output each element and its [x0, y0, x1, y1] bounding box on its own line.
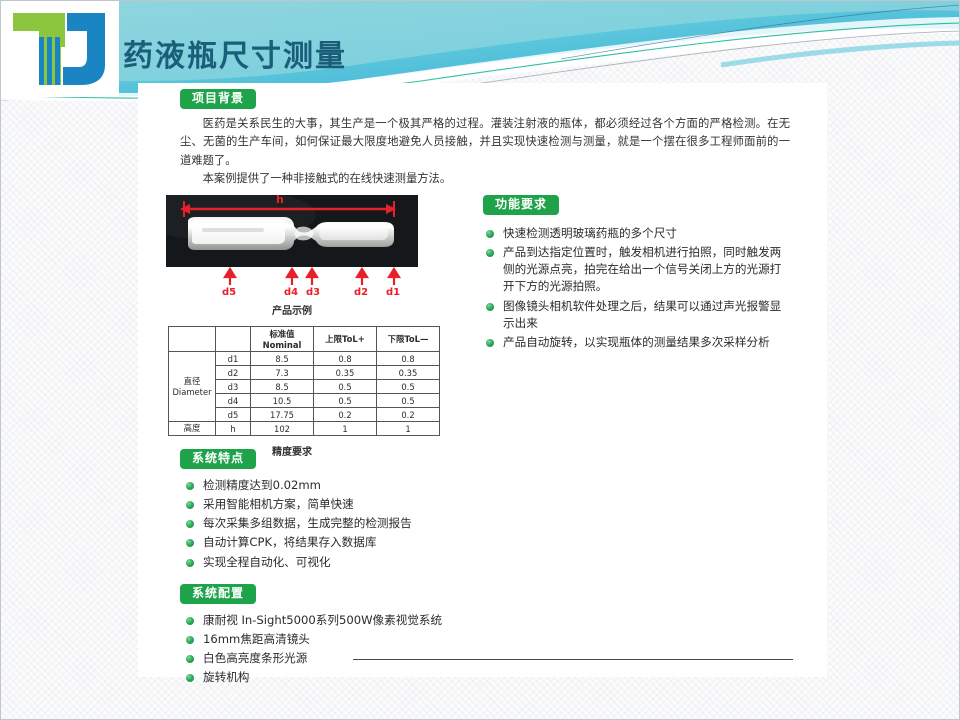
list-item: 16mm焦距高清镜头	[186, 631, 516, 648]
cell-tol-minus: 0.8	[377, 352, 440, 366]
product-photo-caption: 产品示例	[166, 302, 418, 317]
span-label-h: h	[276, 195, 284, 206]
group-label-diameter: 直径 Diameter	[169, 352, 216, 422]
list-item: 图像镜头相机软件处理之后，结果可以通过声光报警显示出来	[486, 298, 786, 332]
th-blank-1	[169, 327, 216, 352]
cell-nominal: 7.3	[251, 366, 314, 380]
list-item-label: 检测精度达到0.02mm	[203, 478, 321, 492]
cell-tol-plus: 0.5	[314, 380, 377, 394]
badge-function-requirements: 功能要求	[483, 195, 559, 215]
cell-key: d3	[216, 380, 251, 394]
dimension-label-d5: d5	[222, 287, 236, 298]
cell-nominal: 17.75	[251, 408, 314, 422]
bullet-dot-icon	[486, 230, 494, 238]
cell-key: h	[216, 422, 251, 436]
list-item-label: 采用智能相机方案，简单快速	[203, 497, 354, 511]
list-item: 采用智能相机方案，简单快速	[186, 496, 476, 513]
list-item: 检测精度达到0.02mm	[186, 477, 476, 494]
list-item-label: 16mm焦距高清镜头	[203, 632, 310, 646]
list-item-label: 每次采集多组数据，生成完整的检测报告	[203, 516, 412, 530]
table-header-row: 标准值Nominal 上限ToL+ 下限ToL—	[169, 327, 440, 352]
nj-logo-icon	[9, 7, 111, 91]
height-span-arrow	[166, 195, 418, 267]
list-item-label: 产品到达指定位置时，触发相机进行拍照，同时触发两侧的光源点亮，拍完在给出一个信号…	[503, 245, 781, 293]
spec-table: 标准值Nominal 上限ToL+ 下限ToL— 直径 Diameter d1 …	[168, 326, 440, 436]
bullet-dot-icon	[186, 617, 194, 625]
list-item-label: 康耐视 In-Sight5000系列500W像素视觉系统	[203, 613, 442, 627]
dimension-label-d3: d3	[306, 287, 320, 298]
cell-tol-plus: 1	[314, 422, 377, 436]
list-item-label: 实现全程自动化、可视化	[203, 555, 331, 569]
cell-tol-minus: 0.35	[377, 366, 440, 380]
page-title: 药液瓶尺寸测量	[123, 31, 347, 75]
background-paragraph-2: 本案例提供了一种非接触式的在线快速测量方法。	[180, 170, 790, 188]
system-features-list: 检测精度达到0.02mm 采用智能相机方案，简单快速 每次采集多组数据，生成完整…	[186, 477, 476, 573]
list-item: 实现全程自动化、可视化	[186, 554, 476, 571]
group-label-height: 高度	[169, 422, 216, 436]
bullet-dot-icon	[486, 249, 494, 257]
list-item-label: 快速检测透明玻璃药瓶的多个尺寸	[503, 226, 677, 240]
list-item: 产品到达指定位置时，触发相机进行拍照，同时触发两侧的光源点亮，拍完在给出一个信号…	[486, 244, 786, 295]
list-item: 旋转机构	[186, 669, 516, 686]
section-system-config: 系统配置	[180, 584, 256, 604]
cell-tol-minus: 0.5	[377, 380, 440, 394]
list-item-label: 自动计算CPK，将结果存入数据库	[203, 535, 376, 549]
cell-tol-minus: 0.2	[377, 408, 440, 422]
list-item: 快速检测透明玻璃药瓶的多个尺寸	[486, 225, 786, 242]
bullet-dot-icon	[186, 559, 194, 567]
list-item-label: 白色高亮度条形光源	[203, 651, 307, 665]
section-system-features: 系统特点	[180, 449, 256, 469]
cell-nominal: 8.5	[251, 352, 314, 366]
list-item: 康耐视 In-Sight5000系列500W像素视觉系统	[186, 612, 516, 629]
badge-system-config: 系统配置	[180, 584, 256, 604]
cell-key: d4	[216, 394, 251, 408]
cell-key: d1	[216, 352, 251, 366]
cell-tol-minus: 0.5	[377, 394, 440, 408]
list-item-label: 产品自动旋转，以实现瓶体的测量结果多次采样分析	[503, 335, 770, 349]
cell-key: d5	[216, 408, 251, 422]
dimension-label-d2: d2	[354, 287, 368, 298]
th-tol-minus: 下限ToL—	[377, 327, 440, 352]
cell-nominal: 102	[251, 422, 314, 436]
section-background: 项目背景	[180, 89, 256, 109]
content-panel: 项目背景 医药是关系民生的大事，其生产是一个极其严格的过程。灌装注射液的瓶体，都…	[138, 83, 827, 677]
footer-divider	[353, 659, 793, 660]
company-logo	[1, 1, 119, 97]
function-req-list: 快速检测透明玻璃药瓶的多个尺寸 产品到达指定位置时，触发相机进行拍照，同时触发两…	[486, 225, 786, 353]
list-item: 产品自动旋转，以实现瓶体的测量结果多次采样分析	[486, 334, 786, 351]
cell-tol-minus: 1	[377, 422, 440, 436]
cell-tol-plus: 0.8	[314, 352, 377, 366]
table-row: 高度 h 102 1 1	[169, 422, 440, 436]
list-item-label: 旋转机构	[203, 670, 249, 684]
cell-tol-plus: 0.35	[314, 366, 377, 380]
bullet-dot-icon	[186, 501, 194, 509]
dimension-label-d4: d4	[284, 287, 298, 298]
cell-nominal: 10.5	[251, 394, 314, 408]
spec-table-figure: 标准值Nominal 上限ToL+ 下限ToL— 直径 Diameter d1 …	[168, 326, 440, 458]
list-item: 自动计算CPK，将结果存入数据库	[186, 534, 476, 551]
th-tol-plus: 上限ToL+	[314, 327, 377, 352]
product-example-figure: h d5 d4 d3 d2 d1 产品示例	[166, 195, 428, 315]
list-item: 每次采集多组数据，生成完整的检测报告	[186, 515, 476, 532]
bullet-dot-icon	[186, 520, 194, 528]
section-function-req: 功能要求	[483, 195, 559, 215]
background-paragraph-1: 医药是关系民生的大事，其生产是一个极其严格的过程。灌装注射液的瓶体，都必须经过各…	[180, 115, 790, 170]
system-config-list: 康耐视 In-Sight5000系列500W像素视觉系统 16mm焦距高清镜头 …	[186, 612, 516, 689]
dimension-label-d1: d1	[386, 287, 400, 298]
table-row: 直径 Diameter d1 8.5 0.8 0.8	[169, 352, 440, 366]
group-label-diameter-en: Diameter	[172, 387, 211, 397]
th-blank-2	[216, 327, 251, 352]
badge-project-background: 项目背景	[180, 89, 256, 109]
bullet-dot-icon	[486, 303, 494, 311]
list-item-label: 图像镜头相机软件处理之后，结果可以通过声光报警显示出来	[503, 299, 781, 330]
dimension-arrows	[166, 267, 418, 287]
cell-tol-plus: 0.2	[314, 408, 377, 422]
bullet-dot-icon	[186, 636, 194, 644]
bullet-dot-icon	[186, 655, 194, 663]
bullet-dot-icon	[186, 539, 194, 547]
slide: 药液瓶尺寸测量 项目背景 医药是关系民生的大事，其生产是一个极其严格的过程。灌装…	[0, 0, 960, 720]
cell-tol-plus: 0.5	[314, 394, 377, 408]
cell-key: d2	[216, 366, 251, 380]
product-photo: h	[166, 195, 418, 267]
cell-nominal: 8.5	[251, 380, 314, 394]
bullet-dot-icon	[486, 339, 494, 347]
group-label-diameter-cn: 直径	[184, 376, 201, 386]
badge-system-features: 系统特点	[180, 449, 256, 469]
th-nominal: 标准值Nominal	[251, 327, 314, 352]
bullet-dot-icon	[186, 674, 194, 682]
bullet-dot-icon	[186, 482, 194, 490]
